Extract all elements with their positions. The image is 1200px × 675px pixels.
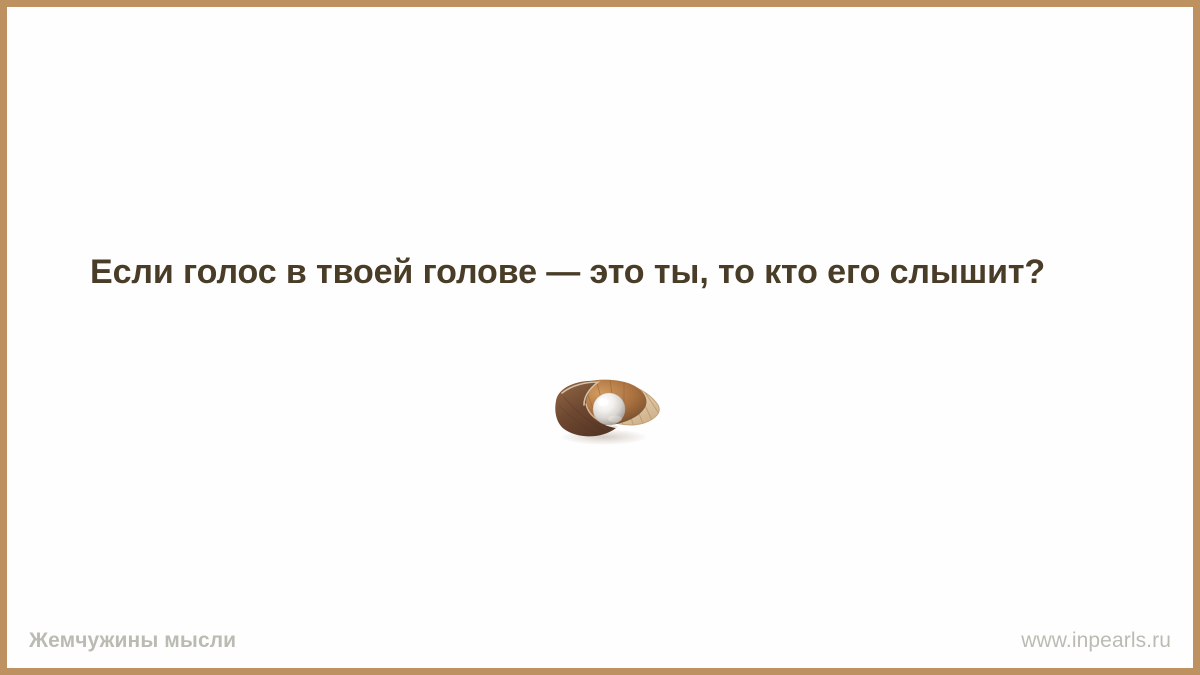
quote-text: Если голос в твоей голове — это ты, то к… [90, 250, 1130, 294]
oyster-shell-icon [542, 371, 666, 447]
footer-site-url[interactable]: www.inpearls.ru [1021, 629, 1171, 653]
pearl-icon [593, 393, 625, 425]
footer-brand: Жемчужины мысли [29, 629, 236, 653]
quote-card: Если голос в твоей голове — это ты, то к… [0, 0, 1200, 675]
oyster-shell-with-pearl-image [542, 371, 666, 447]
